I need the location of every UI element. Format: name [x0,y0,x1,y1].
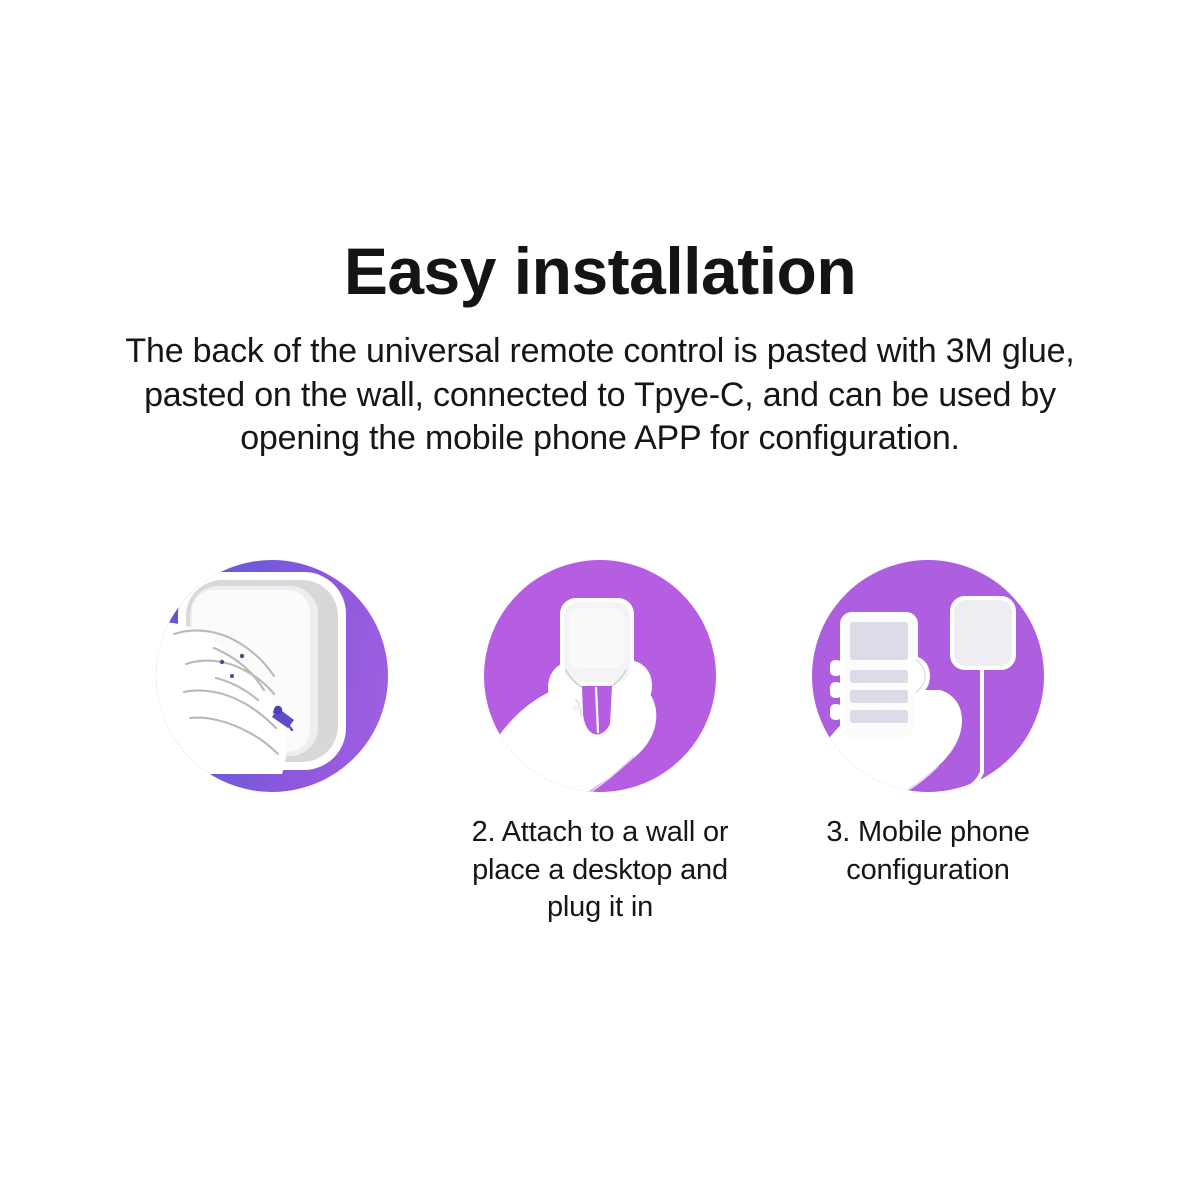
page-root: Easy installation The back of the univer… [0,0,1200,1200]
step-1-illustration [156,560,388,792]
step-2-illustration [484,560,716,792]
step-item-2: 2. Attach to a wall or place a desktop a… [450,560,750,927]
page-subtitle: The back of the universal remote control… [105,330,1095,461]
hand-peeling-adhesive-film-icon [156,560,388,792]
step-item-1 [122,560,422,792]
step-3-illustration [812,560,1044,792]
step-item-3: 3. Mobile phone configuration [778,560,1078,889]
heading-block: Easy installation The back of the univer… [0,238,1200,461]
steps-row: 2. Attach to a wall or place a desktop a… [0,560,1200,980]
step-3-caption: 3. Mobile phone configuration [778,814,1078,889]
step-2-caption: 2. Attach to a wall or place a desktop a… [450,814,750,927]
page-title: Easy installation [0,238,1200,304]
phone-app-configuration-icon [812,560,1044,792]
hand-holding-remote-icon [484,560,716,792]
